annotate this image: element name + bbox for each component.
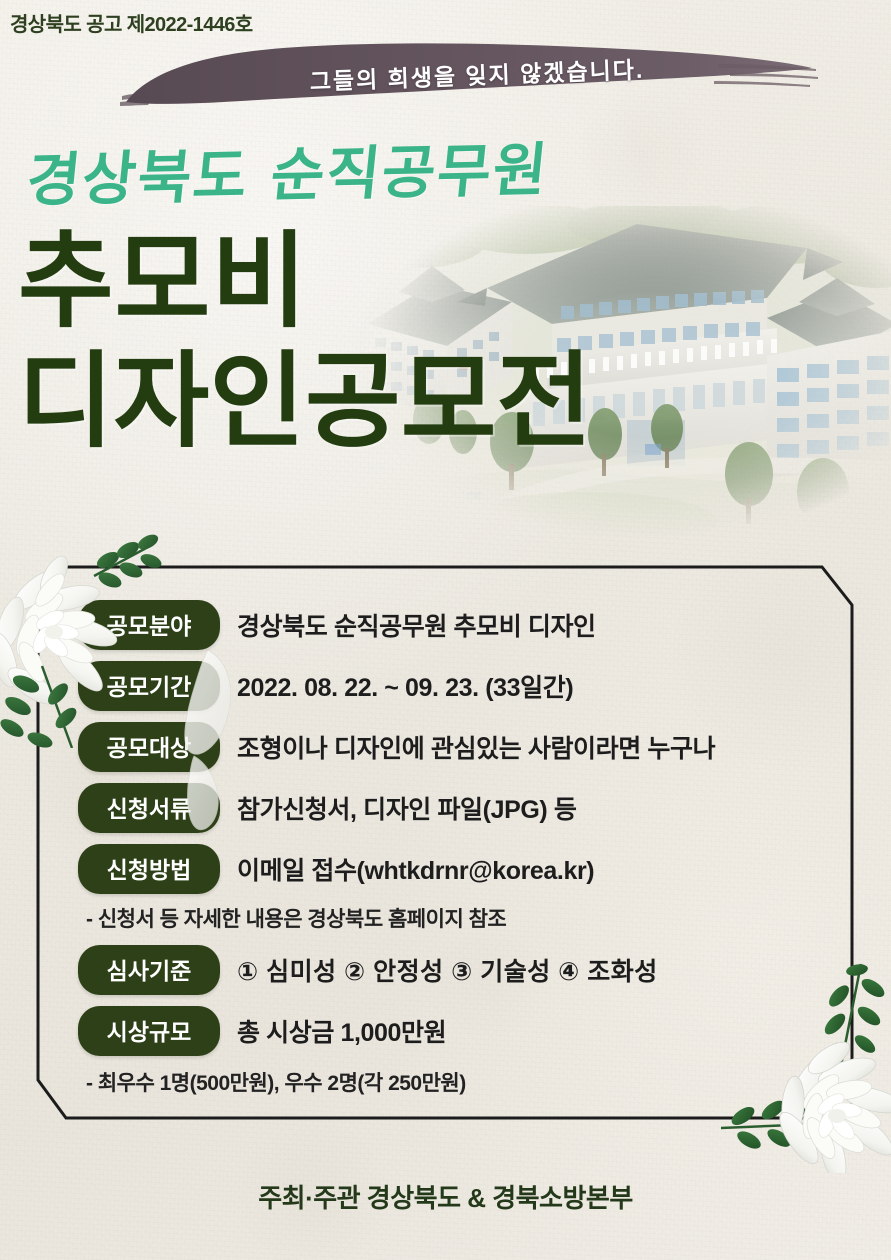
info-label-howtoapply: 신청방법 <box>78 844 220 894</box>
note-award: - 최우수 1명(500만원), 우수 2명(각 250만원) <box>86 1067 838 1097</box>
info-value-period: 2022. 08. 22. ~ 09. 23. (33일간) <box>237 668 573 704</box>
info-row-period: 공모기간 2022. 08. 22. ~ 09. 23. (33일간) <box>78 661 838 711</box>
info-table: 공모분야 경상북도 순직공무원 추모비 디자인 공모기간 2022. 08. 2… <box>78 600 838 1097</box>
info-label-eligibility: 공모대상 <box>78 722 220 772</box>
info-row-eligibility: 공모대상 조형이나 디자인에 관심있는 사람이라면 누구나 <box>78 722 838 772</box>
info-label-period: 공모기간 <box>78 661 220 711</box>
info-label-documents: 신청서류 <box>78 783 220 833</box>
title-line-1: 추모비 <box>18 220 308 342</box>
info-value-documents: 참가신청서, 디자인 파일(JPG) 등 <box>237 790 576 826</box>
info-row-howtoapply: 신청방법 이메일 접수(whtkdrnr@korea.kr) <box>78 844 838 894</box>
info-label-field: 공모분야 <box>78 600 220 650</box>
info-value-howtoapply[interactable]: 이메일 접수(whtkdrnr@korea.kr) <box>237 851 594 887</box>
poster-root: 경상북도 공고 제2022-1446호 <box>0 0 891 1260</box>
info-value-prize: 총 시상금 1,000만원 <box>237 1013 446 1049</box>
footer-organizers: 주최·주관 경상북도 & 경북소방본부 <box>0 1178 891 1215</box>
page-title: 추모비 디자인공모전 <box>18 232 592 452</box>
document-number: 경상북도 공고 제2022-1446호 <box>10 8 253 37</box>
info-row-field: 공모분야 경상북도 순직공무원 추모비 디자인 <box>78 600 838 650</box>
info-value-eligibility: 조형이나 디자인에 관심있는 사람이라면 누구나 <box>237 729 715 765</box>
info-row-prize: 시상규모 총 시상금 1,000만원 <box>78 1006 838 1056</box>
info-row-documents: 신청서류 참가신청서, 디자인 파일(JPG) 등 <box>78 783 838 833</box>
info-label-criteria: 심사기준 <box>78 945 220 995</box>
note-apply: - 신청서 등 자세한 내용은 경상북도 홈페이지 참조 <box>86 903 838 933</box>
info-value-field: 경상북도 순직공무원 추모비 디자인 <box>237 607 596 643</box>
info-label-prize: 시상규모 <box>78 1006 220 1056</box>
title-line-2: 디자인공모전 <box>18 352 592 452</box>
title-script-line: 경상북도 순직공무원 <box>23 123 553 218</box>
info-value-criteria: ① 심미성 ② 안정성 ③ 기술성 ④ 조화성 <box>237 952 658 988</box>
info-row-criteria: 심사기준 ① 심미성 ② 안정성 ③ 기술성 ④ 조화성 <box>78 945 838 995</box>
brush-banner: 그들의 희생을 잊지 않겠습니다. <box>118 38 818 110</box>
